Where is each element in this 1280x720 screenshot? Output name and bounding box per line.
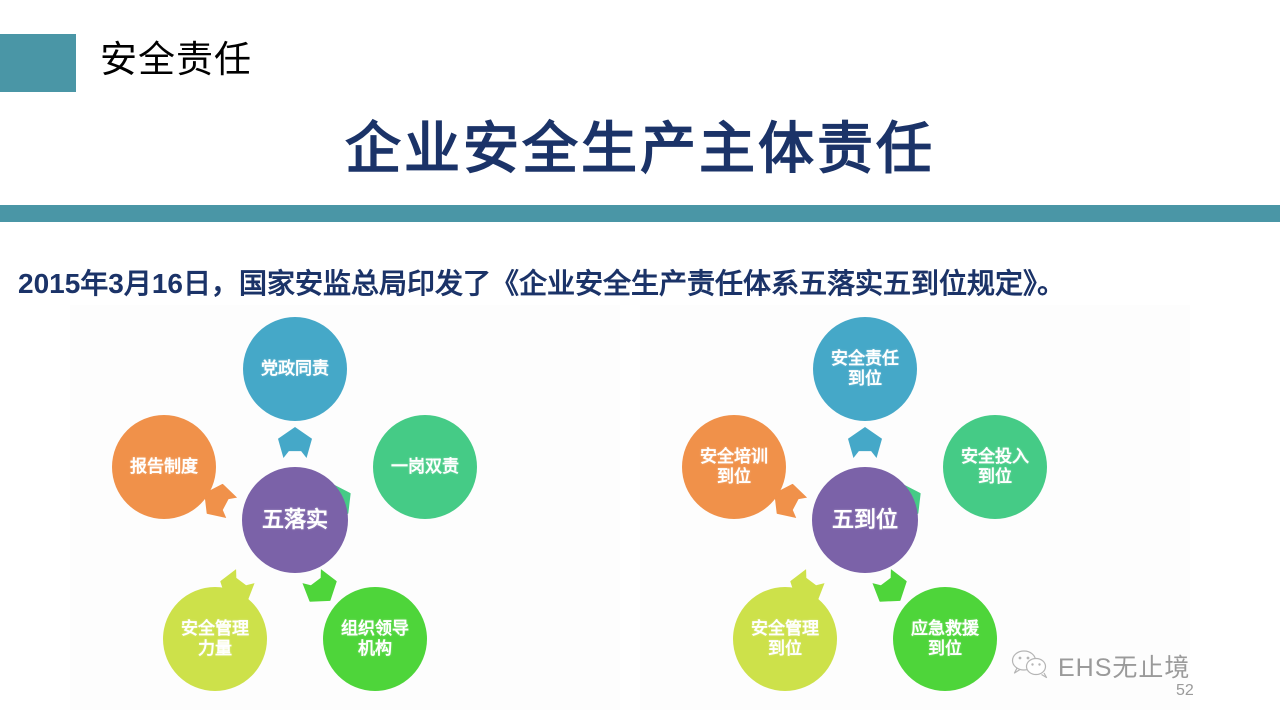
diagram-node-bottom-left: 安全管理到位 [733,587,837,691]
wechat-icon [1010,649,1050,684]
diagram-node-left: 安全培训到位 [682,415,786,519]
arrow-to-top-node [848,427,882,458]
diagram-five-implementations: 党政同责 报告制度 一岗双责 安全管理力量 组织领导机构 五落实 [70,305,620,710]
diagram-node-right: 安全投入到位 [943,415,1047,519]
diagram-hub: 五落实 [242,467,348,573]
diagram-node-bottom-right: 组织领导机构 [323,587,427,691]
diagram-node-top: 党政同责 [243,317,347,421]
watermark: EHS无止境 [1010,648,1190,684]
diagram-node-left: 报告制度 [112,415,216,519]
page-number: 52 [1176,682,1194,700]
page-title: 企业安全生产主体责任 [0,104,1280,185]
diagram-node-top: 安全责任到位 [813,317,917,421]
watermark-label: EHS无止境 [1058,648,1190,684]
header-divider-rule [0,205,1280,222]
diagram-node-bottom-right: 应急救援到位 [893,587,997,691]
diagram-hub: 五到位 [812,467,918,573]
diagram-node-right: 一岗双责 [373,415,477,519]
slide-kicker: 安全责任 [100,36,252,84]
header-accent-block [0,34,76,92]
intro-paragraph: 2015年3月16日，国家安监总局印发了《企业安全生产责任体系五落实五到位规定》… [18,262,1065,302]
diagram-node-bottom-left: 安全管理力量 [163,587,267,691]
arrow-to-top-node [278,427,312,458]
